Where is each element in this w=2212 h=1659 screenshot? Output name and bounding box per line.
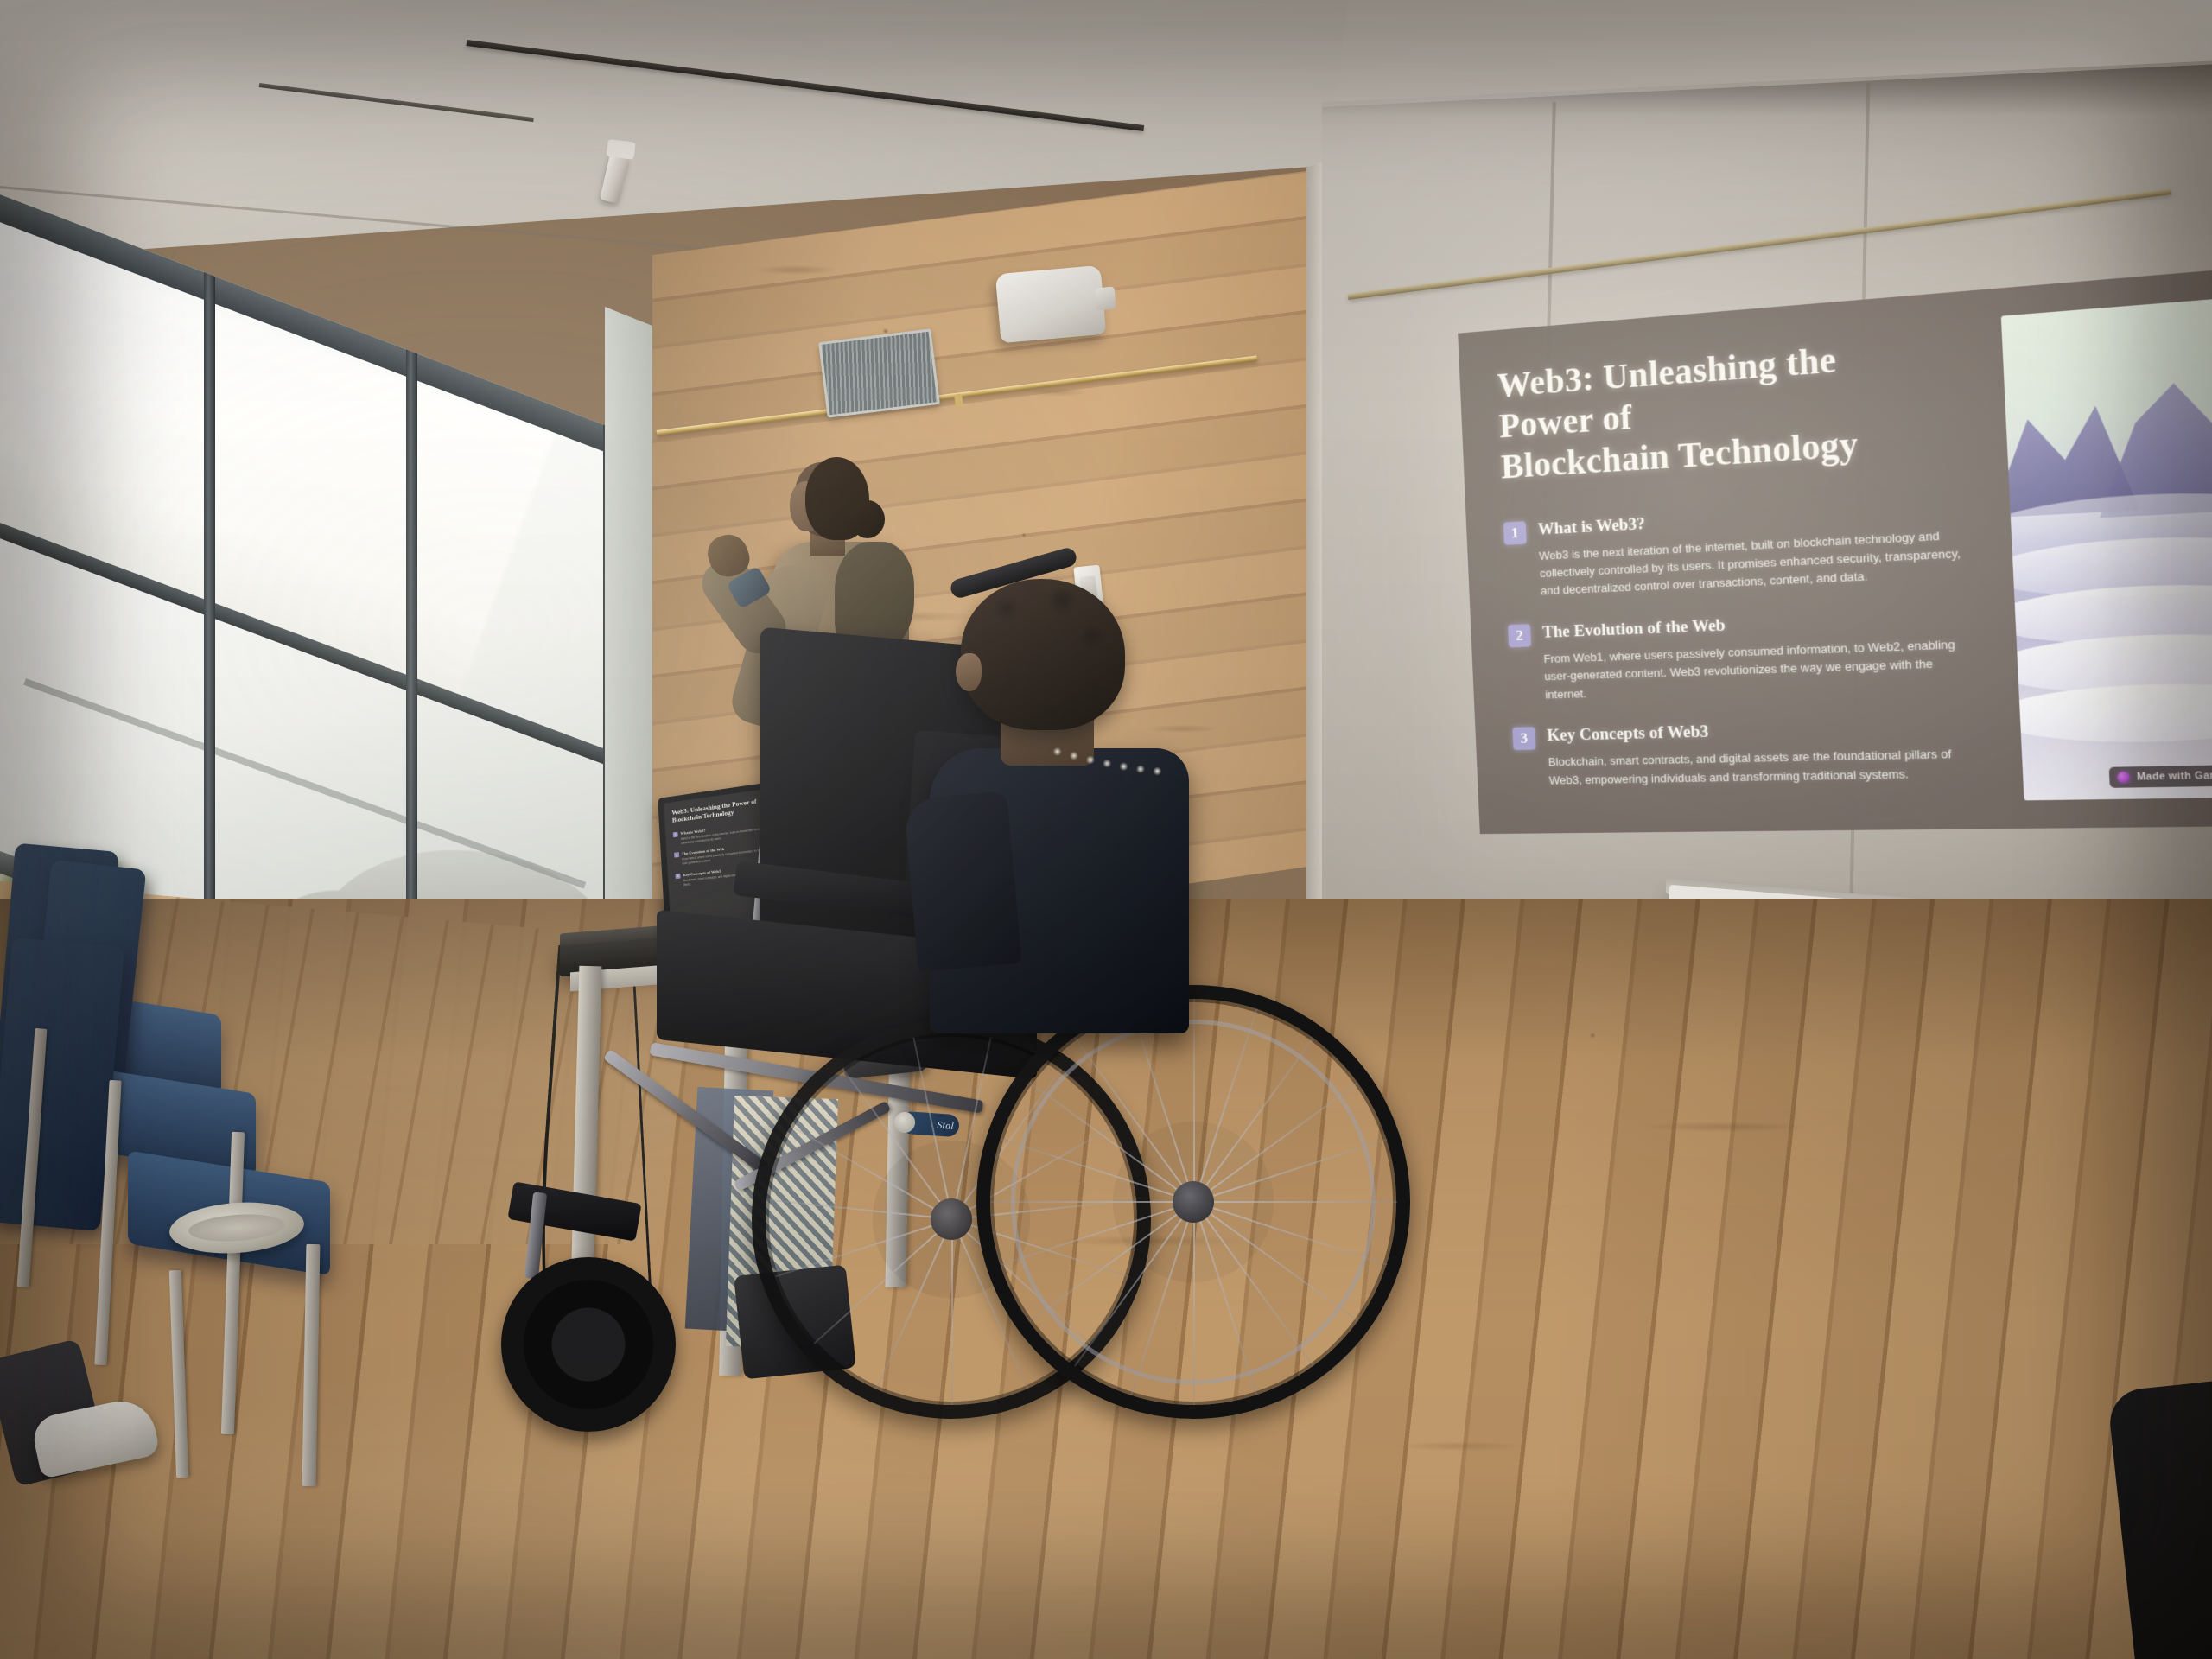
room-photo-scene: Web3: Unleashing the Power of Blockchain…	[0, 0, 2212, 1659]
wheelchair-front-caster	[501, 1257, 676, 1432]
wheelchair-hub	[931, 1198, 972, 1240]
slide-item-text: From Web1, where users passively consume…	[1543, 635, 1974, 704]
air-vent-icon	[818, 328, 940, 417]
brass-rail-clip	[954, 394, 963, 408]
slide-item-body: The Evolution of the Web From Web1, wher…	[1542, 605, 2001, 704]
wall-speaker-icon	[995, 265, 1107, 343]
projected-slide: Web3: Unleashing the Power of Blockchain…	[1458, 266, 2212, 834]
seated-attendee	[899, 579, 1210, 1028]
attendee-ear	[956, 653, 982, 691]
slide-item-number: 3	[1512, 728, 1535, 751]
slide-item-heading: Key Concepts of Web3	[1547, 715, 2004, 747]
laptop-item-number: 3	[676, 874, 681, 880]
slide-content-column: Web3: Unleashing the Power of Blockchain…	[1458, 288, 2025, 834]
slide-item: 1 What is Web3? Web3 is the next iterati…	[1503, 495, 1996, 602]
wheelchair-main-wheel[interactable]	[976, 985, 1410, 1419]
slide-item-text: Blockchain, smart contracts, and digital…	[1548, 745, 1978, 790]
slide-item-text: Web3 is the next iteration of the intern…	[1539, 525, 1969, 601]
gamma-dot-icon	[2118, 772, 2131, 783]
attendee-shoulder	[904, 791, 1022, 972]
laptop-item-number: 1	[673, 831, 678, 837]
presenter-hair-bun	[850, 500, 885, 538]
laptop-item-number: 2	[674, 852, 679, 858]
slide-item: 2 The Evolution of the Web From Web1, wh…	[1508, 605, 2001, 705]
slide-artwork: Made with Gamma	[2001, 297, 2212, 800]
slide-item-body: Key Concepts of Web3 Blockchain, smart c…	[1547, 715, 2005, 790]
slide-item-number: 1	[1503, 521, 1527, 545]
made-with-gamma-badge[interactable]: Made with Gamma	[2109, 765, 2212, 788]
slide-title: Web3: Unleashing the Power of Blockchain…	[1497, 331, 1935, 487]
slide-item-body: What is Web3? Web3 is the next iteration…	[1537, 495, 1996, 601]
artwork-wave-5	[2001, 680, 2212, 745]
slide-surface: Web3: Unleashing the Power of Blockchain…	[1458, 266, 2212, 834]
wheelchair-hub	[1173, 1181, 1214, 1223]
gamma-badge-label: Made with Gamma	[2137, 770, 2212, 783]
slide-item: 3 Key Concepts of Web3 Blockchain, smart…	[1512, 715, 2005, 791]
attendee-hair	[961, 579, 1125, 730]
slide-item-number: 2	[1508, 624, 1531, 647]
